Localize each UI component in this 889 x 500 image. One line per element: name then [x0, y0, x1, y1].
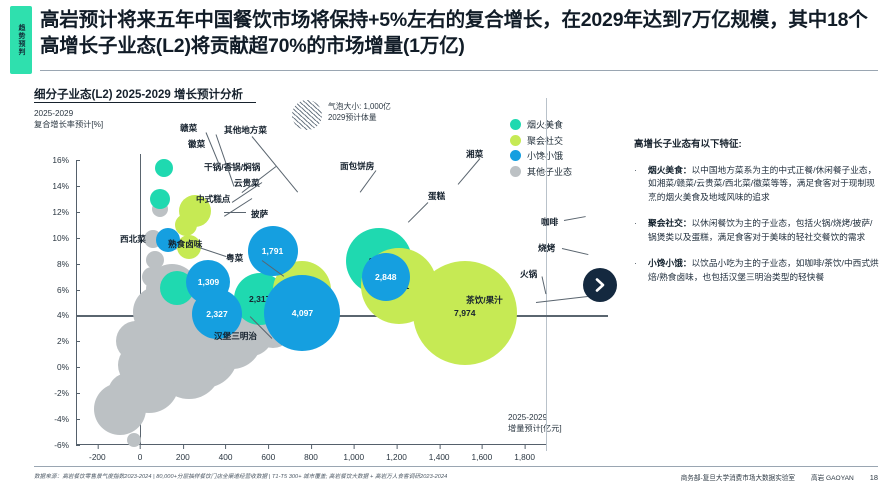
bubble-other[interactable] — [116, 321, 156, 361]
bubble-callout-label: 其他地方菜 — [224, 124, 267, 136]
insight-list: ·烟火美食：以中国地方菜系为主的中式正餐/休闲餐子业态，如湘菜/赣菜/云贵菜/西… — [634, 164, 880, 284]
next-arrow-button[interactable] — [583, 268, 617, 302]
footer-source: 数据来源：高岩餐饮零售景气度指数2023-2024 | 80,000+分层抽样餐… — [34, 472, 447, 480]
legend-label: 聚会社交 — [527, 134, 563, 147]
bubble-聚会社交[interactable]: 7,974 — [413, 261, 517, 365]
bubble-value: 7,974 — [454, 308, 476, 318]
bubble-size-key: 气泡大小: 1,000亿 2029预计体量 — [292, 100, 391, 130]
y-tick-label: 6% — [57, 285, 76, 295]
section-tag-label: 趋势预判 — [17, 24, 25, 56]
bullet-icon: · — [634, 217, 640, 244]
bubble-callout-label: 茶饮/果汁 — [466, 294, 503, 306]
section-tag: 趋势预判 — [10, 6, 32, 74]
y-tick-label: 8% — [57, 259, 76, 269]
bubble-callout-label: 西北菜 — [120, 233, 146, 245]
y-tick-label: 12% — [52, 207, 76, 217]
y-tick-label: 10% — [52, 233, 76, 243]
bubble-value: 2,327 — [206, 309, 228, 319]
chevron-right-icon — [592, 277, 608, 293]
headline-divider — [40, 70, 878, 71]
callout-leader-line — [224, 212, 246, 213]
hatched-bubble-icon — [292, 100, 322, 130]
insight-item-term: 烟火美食： — [648, 165, 691, 175]
insight-item-2: ·小馋小饿：以饮品小吃为主的子业态，如咖啡/茶饮/中西式烘焙/熟食卤味，也包括汉… — [634, 257, 880, 284]
insight-item-text: 烟火美食：以中国地方菜系为主的中式正餐/休闲餐子业态，如湘菜/赣菜/云贵菜/西北… — [648, 164, 880, 204]
slide-root: 趋势预判 高岩预计将来五年中国餐饮市场将保持+5%左右的复合增长，在2029年达… — [0, 0, 889, 500]
legend-item-0[interactable]: 烟火美食 — [510, 118, 572, 131]
bullet-icon: · — [634, 164, 640, 204]
y-tick-label: -2% — [54, 388, 76, 398]
bubble-callout-label: 披萨 — [251, 208, 268, 220]
bubble-烟火美食[interactable] — [150, 189, 170, 209]
bubble-callout-label: 汉堡三明治 — [214, 330, 257, 342]
page-title: 高岩预计将来五年中国餐饮市场将保持+5%左右的复合增长，在2029年达到7万亿规… — [40, 8, 878, 60]
footer-page-number: 18 — [870, 473, 878, 482]
y-tick-label: 0% — [57, 362, 76, 372]
x-tick-label: 1,800 — [514, 452, 535, 462]
bubble-callout-label: 赣菜 — [180, 122, 197, 134]
bubble-value: 1,791 — [262, 246, 284, 256]
x-tick-label: 200 — [176, 452, 190, 462]
insight-panel: 高增长子业态有以下特征: ·烟火美食：以中国地方菜系为主的中式正餐/休闲餐子业态… — [634, 136, 880, 297]
legend-swatch-icon — [510, 119, 521, 130]
bubble-value: 2,848 — [375, 272, 397, 282]
insight-item-text: 聚会社交：以休闲餐饮为主的子业态，包括火锅/烧烤/披萨/锅煲类以及蛋糕，满足食客… — [648, 217, 880, 244]
panel-right-border — [546, 98, 547, 451]
y-tick-label: 2% — [57, 336, 76, 346]
legend-item-1[interactable]: 聚会社交 — [510, 134, 572, 147]
y-tick-label: -4% — [54, 414, 76, 424]
bubble-callout-label: 粤菜 — [226, 252, 243, 264]
y-tick-label: 4% — [57, 310, 76, 320]
x-tick-label: 0 — [138, 452, 143, 462]
bubble-callout-label: 火锅 — [520, 268, 537, 280]
bubble-value: 4,097 — [292, 308, 314, 318]
legend-swatch-icon — [510, 135, 521, 146]
bubble-callout-label: 中式糕点 — [196, 193, 230, 205]
x-tick-label: 1,600 — [472, 452, 493, 462]
callout-leader-line — [562, 248, 588, 255]
bubble-小馋小饿[interactable]: 4,097 — [264, 275, 340, 351]
y-tick-label: 14% — [52, 181, 76, 191]
insight-item-1: ·聚会社交：以休闲餐饮为主的子业态，包括火锅/烧烤/披萨/锅煲类以及蛋糕，满足食… — [634, 217, 880, 244]
x-tick-label: 600 — [261, 452, 275, 462]
x-tick-label: 800 — [304, 452, 318, 462]
x-tick-label: 1,000 — [343, 452, 364, 462]
bubble-烟火美食[interactable] — [155, 159, 173, 177]
bubble-value: 1,309 — [198, 277, 220, 287]
bubble-callout-label: 面包饼房 — [340, 160, 374, 172]
insight-item-term: 聚会社交： — [648, 218, 691, 228]
callout-leader-line — [564, 216, 586, 221]
bubble-callout-label: 干锅/香锅/焖锅 — [204, 161, 260, 173]
x-tick-label: 1,400 — [429, 452, 450, 462]
y-axis-title: 2025-2029 复合增长率预计[%] — [34, 108, 103, 130]
bubble-other[interactable] — [127, 433, 141, 447]
bubble-聚会社交[interactable] — [175, 214, 197, 236]
bubble-size-key-label: 气泡大小: 1,000亿 2029预计体量 — [328, 100, 391, 124]
bubble-callout-label: 熟食卤味 — [168, 238, 202, 250]
x-tick-label: 1,200 — [386, 452, 407, 462]
chart-title: 细分子业态(L2) 2025-2029 增长预计分析 — [34, 86, 243, 102]
scatter-plot: 16%14%12%10%8%6%4%2%0%-2%-4%-6% -2000200… — [76, 160, 546, 445]
footer-org: 商务部-复旦大学消费市场大数据实验室 — [681, 472, 795, 482]
footer-divider — [34, 466, 878, 467]
y-tick-label: 16% — [52, 155, 76, 165]
chart-title-underline — [34, 102, 256, 103]
footer-brand: 高岩 GAOYAN — [811, 472, 854, 482]
bullet-icon: · — [634, 257, 640, 284]
x-tick-label: -200 — [89, 452, 106, 462]
bubble-callout-label: 蛋糕 — [428, 190, 445, 202]
bubble-callout-label: 徽菜 — [188, 138, 205, 150]
bubble-callout-label: 咖啡 — [541, 216, 558, 228]
footer-meta: 商务部-复旦大学消费市场大数据实验室 高岩 GAOYAN 18 — [681, 472, 878, 482]
bubble-callout-label: 烧烤 — [538, 242, 555, 254]
bubble-小馋小饿[interactable]: 2,848 — [362, 253, 410, 301]
insight-item-text: 小馋小饿：以饮品小吃为主的子业态，如咖啡/茶饮/中西式烘焙/熟食卤味，也包括汉堡… — [648, 257, 880, 284]
insight-item-term: 小馋小饿： — [648, 258, 691, 268]
insight-panel-title: 高增长子业态有以下特征: — [634, 136, 880, 150]
legend-label: 烟火美食 — [527, 118, 563, 131]
insight-item-0: ·烟火美食：以中国地方菜系为主的中式正餐/休闲餐子业态，如湘菜/赣菜/云贵菜/西… — [634, 164, 880, 204]
y-tick-label: -6% — [54, 440, 76, 450]
x-tick-label: 400 — [219, 452, 233, 462]
